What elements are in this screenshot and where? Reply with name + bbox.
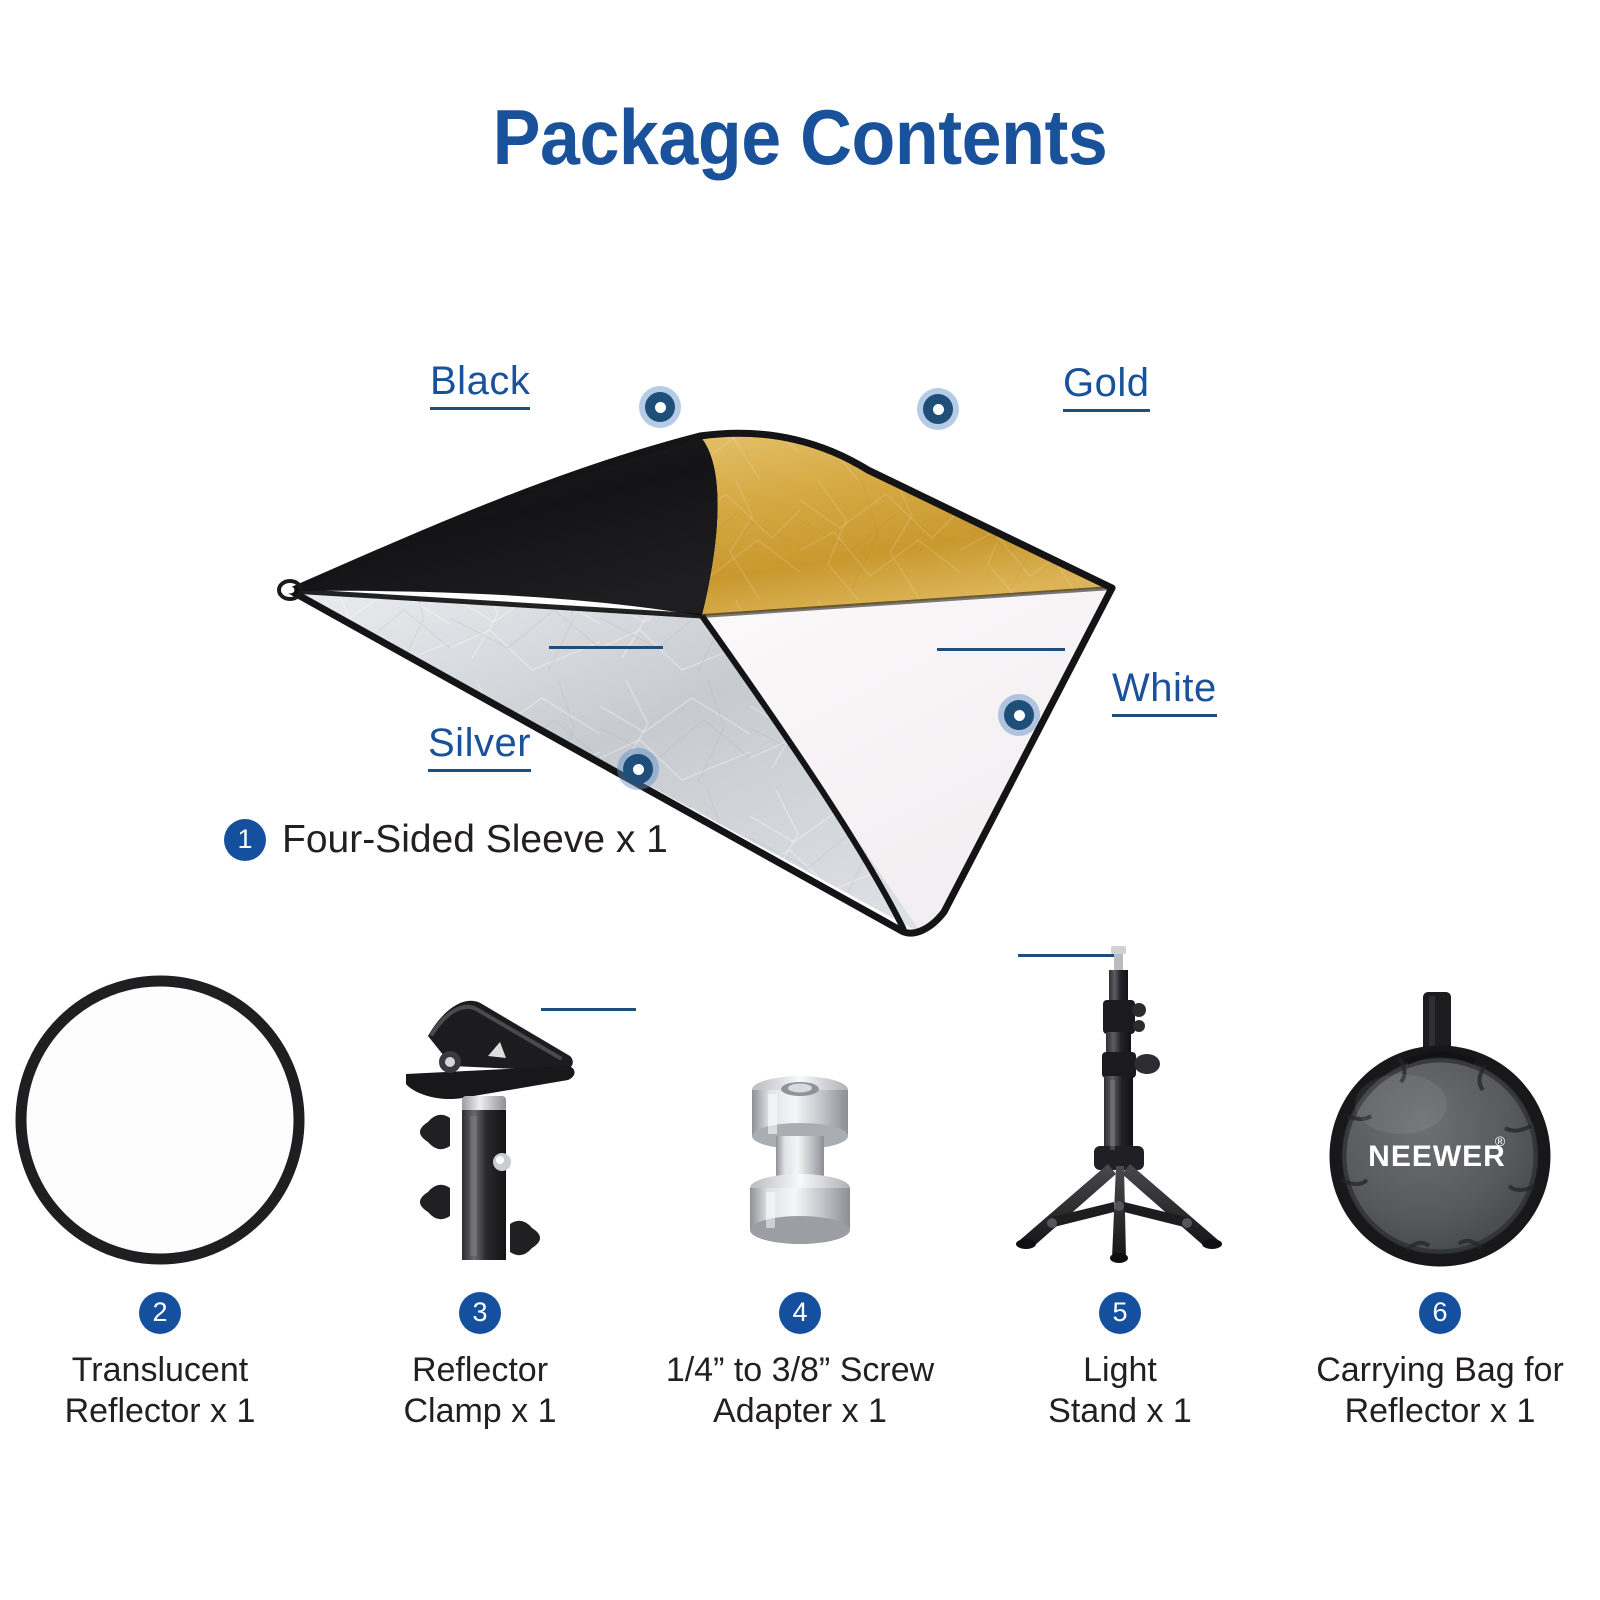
callout-label-silver: Silver [428,722,531,772]
sleeve-panel-gold [700,434,1110,616]
package-item-carrying-bag: NEEWER ® 6 Carrying Bag for Reflector x … [1280,940,1600,1433]
package-item-reflector-clamp: 3 Reflector Clamp x 1 [320,940,640,1433]
item-3-caption: Reflector Clamp x 1 [403,1350,556,1433]
item-5-badge-wrap: 5 [1099,1292,1141,1334]
item-4-badge: 4 [779,1292,821,1334]
light-stand-art [960,940,1280,1270]
leader-line-gold [937,648,1065,651]
callout-label-white: White [1112,667,1217,717]
item-6-caption: Carrying Bag for Reflector x 1 [1316,1350,1564,1433]
item-4-badge-wrap: 4 [779,1292,821,1334]
item-3-badge: 3 [459,1292,501,1334]
callout-dot-black [645,392,675,422]
item-5-badge: 5 [1099,1292,1141,1334]
callout-dot-gold [923,394,953,424]
sleeve-panel-black [291,436,718,616]
page-title: Package Contents [64,98,1536,176]
item-4-caption: 1/4” to 3/8” Screw Adapter x 1 [666,1350,934,1433]
reflector-clamp-art [320,940,640,1270]
package-item-translucent-reflector: 2 Translucent Reflector x 1 [0,940,320,1433]
package-item-screw-adapter: 4 1/4” to 3/8” Screw Adapter x 1 [640,940,960,1433]
item-6-badge-wrap: 6 [1419,1292,1461,1334]
item-1-caption: 1 Four-Sided Sleeve x 1 [224,818,668,862]
callout-dot-silver [623,754,653,784]
screw-adapter-art [640,940,960,1270]
item-5-caption: Light Stand x 1 [1048,1350,1192,1433]
callout-label-gold: Gold [1063,362,1150,412]
callout-label-black: Black [430,360,530,410]
translucent-reflector-disc-icon [10,970,310,1270]
screw-adapter-icon [710,970,890,1270]
item-2-caption: Translucent Reflector x 1 [65,1350,256,1433]
carrying-bag-art: NEEWER ® [1280,940,1600,1270]
item-2-badge-wrap: 2 [139,1292,181,1334]
item-3-badge-wrap: 3 [459,1292,501,1334]
carrying-bag-icon: NEEWER ® [1295,970,1585,1270]
package-items-row: 2 Translucent Reflector x 1 [0,940,1600,1560]
item-6-badge: 6 [1419,1292,1461,1334]
item-1-label: Four-Sided Sleeve x 1 [282,818,668,862]
package-item-light-stand: 5 Light Stand x 1 [960,940,1280,1433]
bag-brand-text: NEEWER [1368,1140,1506,1173]
translucent-reflector-art [0,940,320,1270]
item-1-badge: 1 [224,819,266,861]
reflector-clamp-icon [370,970,590,1270]
leader-line-black [549,646,663,649]
item-2-badge: 2 [139,1292,181,1334]
light-stand-icon [990,940,1250,1270]
callout-dot-white [1004,700,1034,730]
bag-brand-registered-mark: ® [1495,1133,1506,1149]
